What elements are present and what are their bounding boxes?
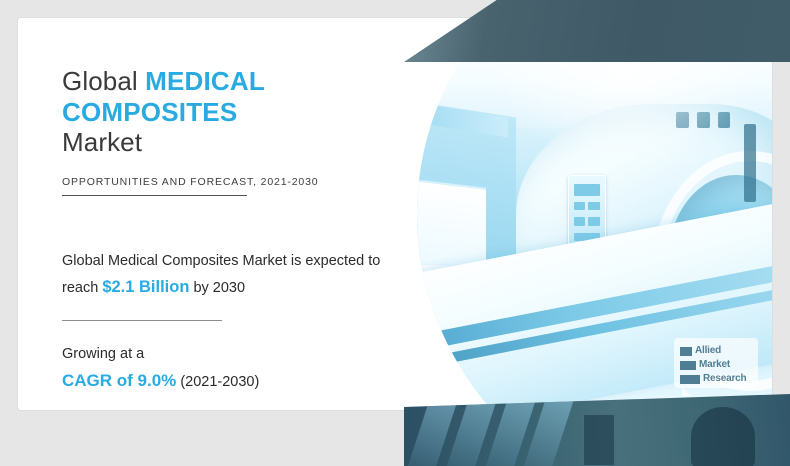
page-title: Global MEDICAL COMPOSITES Market xyxy=(62,66,412,158)
subtitle-divider xyxy=(62,195,247,196)
stat-value: $2.1 Billion xyxy=(102,278,189,296)
cagr-trail: (2021-2030) xyxy=(180,374,259,390)
cagr-value: CAGR of 9.0% xyxy=(62,371,176,390)
top-dark-band xyxy=(404,0,790,62)
photo-inner xyxy=(372,18,772,410)
subtitle: OPPORTUNITIES AND FORECAST, 2021-2030 xyxy=(62,176,416,188)
mri-scanner-photo xyxy=(372,18,772,410)
stat-market-value: Global Medical Composites Market is expe… xyxy=(62,250,392,300)
cagr-lead: Growing at a xyxy=(62,346,144,362)
infographic-canvas: Global MEDICAL COMPOSITES Market OPPORTU… xyxy=(0,0,790,466)
stat-trail: by 2030 xyxy=(193,280,245,296)
stats-divider xyxy=(62,320,222,321)
title-prefix: Global xyxy=(62,66,138,96)
title-suffix: Market xyxy=(62,127,142,157)
text-column: Global MEDICAL COMPOSITES Market OPPORTU… xyxy=(44,44,416,384)
stat-cagr: Growing at a CAGR of 9.0% (2021-2030) xyxy=(62,343,416,394)
report-card: Global MEDICAL COMPOSITES Market OPPORTU… xyxy=(18,18,772,410)
gantry-slot xyxy=(744,124,756,202)
